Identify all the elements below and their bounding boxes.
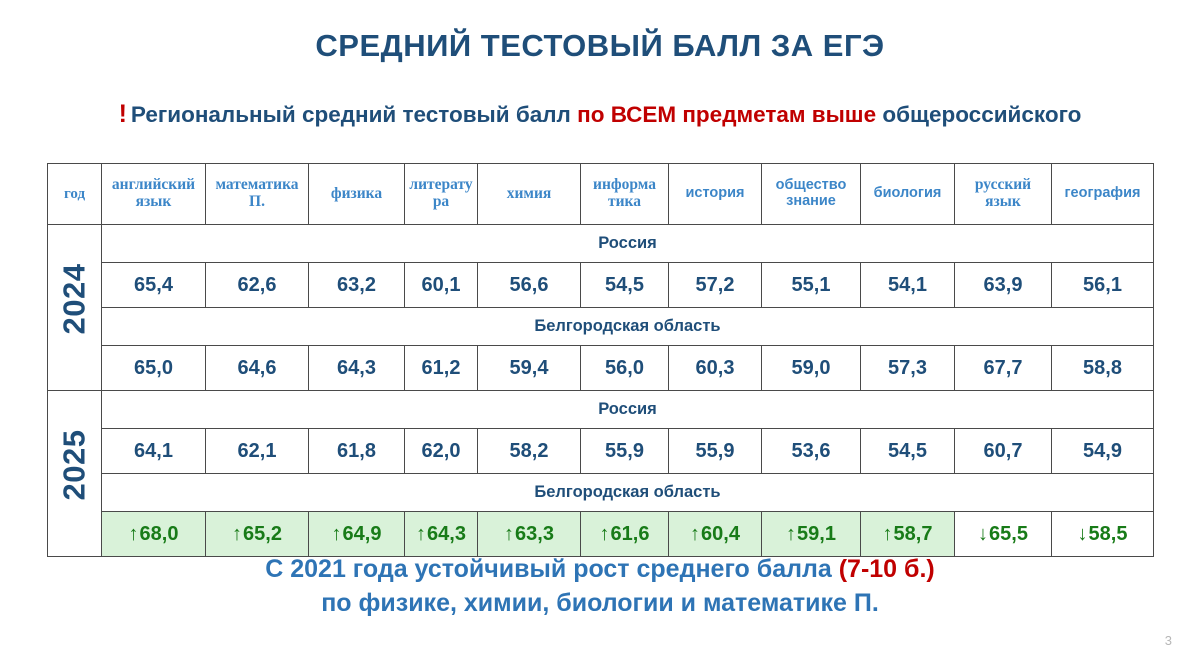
cell-2025-russia-history: 55,9	[669, 429, 762, 474]
page-title: СРЕДНИЙ ТЕСТОВЫЙ БАЛЛ ЗА ЕГЭ	[0, 28, 1200, 64]
value-text: 68,0	[140, 523, 179, 545]
arrow-up-icon: ↑	[416, 524, 426, 544]
value-text: 65,5	[989, 523, 1028, 545]
cell-2024-belgorod-russian: 67,7	[955, 346, 1052, 391]
region-label-row-2024-belgorod: Белгородская область	[48, 308, 1154, 346]
year-label-2024: 2024	[57, 281, 93, 334]
region-label-russia-2025: Россия	[102, 391, 1154, 429]
footer-line-1: С 2021 года устойчивый рост среднего бал…	[0, 553, 1200, 587]
subtitle-part-1: Региональный средний тестовый балл	[131, 102, 577, 127]
year-cell-2025: 2025	[48, 391, 102, 557]
cell-2024-russia-english: 65,4	[102, 263, 206, 308]
column-header-russian: русский язык	[955, 164, 1052, 225]
cell-2025-belgorod-geography: ↓58,5	[1052, 512, 1154, 557]
value-text: 63,3	[515, 523, 554, 545]
cell-2025-russia-english: 64,1	[102, 429, 206, 474]
grades-table: год английский язык математика П. физика…	[47, 163, 1154, 557]
cell-2025-russia-informatics: 55,9	[581, 429, 669, 474]
table-row-2024-russia: 65,4 62,6 63,2 60,1 56,6 54,5 57,2 55,1 …	[48, 263, 1154, 308]
region-label-row-2025-belgorod: Белгородская область	[48, 474, 1154, 512]
cell-2024-belgorod-social: 59,0	[762, 346, 861, 391]
cell-2024-russia-literature: 60,1	[405, 263, 478, 308]
value-text: 58,5	[1089, 523, 1128, 545]
arrow-up-icon: ↑	[883, 524, 893, 544]
arrow-up-icon: ↑	[600, 524, 610, 544]
region-label-row-2024-russia: 2024 Россия	[48, 225, 1154, 263]
cell-2025-russia-social: 53,6	[762, 429, 861, 474]
cell-2025-belgorod-biology: ↑58,7	[861, 512, 955, 557]
cell-2025-belgorod-math: ↑65,2	[206, 512, 309, 557]
cell-2024-belgorod-english: 65,0	[102, 346, 206, 391]
column-header-literature: литерату ра	[405, 164, 478, 225]
region-label-belgorod-2025: Белгородская область	[102, 474, 1154, 512]
table-row-2024-belgorod: 65,0 64,6 64,3 61,2 59,4 56,0 60,3 59,0 …	[48, 346, 1154, 391]
arrow-up-icon: ↑	[332, 524, 342, 544]
region-label-russia: Россия	[102, 225, 1154, 263]
cell-2024-russia-russian: 63,9	[955, 263, 1052, 308]
cell-2025-belgorod-informatics: ↑61,6	[581, 512, 669, 557]
cell-2025-belgorod-english: ↑68,0	[102, 512, 206, 557]
cell-2025-russia-russian: 60,7	[955, 429, 1052, 474]
value-text: 64,3	[427, 523, 466, 545]
subtitle-red-part-1: по	[577, 102, 611, 127]
cell-2024-belgorod-physics: 64,3	[309, 346, 405, 391]
column-header-english: английский язык	[102, 164, 206, 225]
cell-2025-russia-math: 62,1	[206, 429, 309, 474]
subtitle-banner: !Региональный средний тестовый балл по В…	[0, 100, 1200, 129]
table-body: 2024 Россия 65,4 62,6 63,2 60,1 56,6 54,…	[48, 225, 1154, 557]
cell-2024-belgorod-biology: 57,3	[861, 346, 955, 391]
column-header-biology: биология	[861, 164, 955, 225]
cell-2024-belgorod-informatics: 56,0	[581, 346, 669, 391]
cell-2024-belgorod-geography: 58,8	[1052, 346, 1154, 391]
cell-2025-belgorod-social: ↑59,1	[762, 512, 861, 557]
arrow-up-icon: ↑	[129, 524, 139, 544]
cell-2024-russia-physics: 63,2	[309, 263, 405, 308]
column-header-social-studies: общество знание	[762, 164, 861, 225]
cell-2025-belgorod-history: ↑60,4	[669, 512, 762, 557]
arrow-up-icon: ↑	[504, 524, 514, 544]
cell-2025-russia-geography: 54,9	[1052, 429, 1154, 474]
region-label-row-2025-russia: 2025 Россия	[48, 391, 1154, 429]
value-text: 61,6	[611, 523, 650, 545]
table-header-row-group: год английский язык математика П. физика…	[48, 164, 1154, 225]
column-header-geography: география	[1052, 164, 1154, 225]
value-text: 65,2	[243, 523, 282, 545]
region-label-belgorod: Белгородская область	[102, 308, 1154, 346]
table-row-2025-russia: 64,1 62,1 61,8 62,0 58,2 55,9 55,9 53,6 …	[48, 429, 1154, 474]
cell-2024-belgorod-literature: 61,2	[405, 346, 478, 391]
year-label-2025: 2025	[57, 447, 93, 500]
grades-table-container: год английский язык математика П. физика…	[47, 163, 1153, 557]
column-header-chemistry: химия	[478, 164, 581, 225]
arrow-up-icon: ↑	[232, 524, 242, 544]
value-text: 64,9	[343, 523, 382, 545]
cell-2024-belgorod-history: 60,3	[669, 346, 762, 391]
year-cell-2024: 2024	[48, 225, 102, 391]
cell-2025-russia-biology: 54,5	[861, 429, 955, 474]
value-text: 59,1	[797, 523, 836, 545]
cell-2025-russia-literature: 62,0	[405, 429, 478, 474]
exclamation-icon: !	[119, 100, 127, 128]
column-header-physics: физика	[309, 164, 405, 225]
cell-2024-russia-geography: 56,1	[1052, 263, 1154, 308]
page-number: 3	[1165, 633, 1172, 648]
cell-2024-russia-math: 62,6	[206, 263, 309, 308]
column-header-history: история	[669, 164, 762, 225]
arrow-up-icon: ↑	[690, 524, 700, 544]
column-header-math-p: математика П.	[206, 164, 309, 225]
cell-2024-belgorod-chemistry: 59,4	[478, 346, 581, 391]
arrow-up-icon: ↑	[786, 524, 796, 544]
subtitle-red-part-2: предметам выше	[676, 102, 882, 127]
arrow-down-icon: ↓	[978, 524, 988, 544]
subtitle-red-caps: ВСЕМ	[611, 102, 676, 127]
table-header-row: год английский язык математика П. физика…	[48, 164, 1154, 225]
cell-2024-russia-chemistry: 56,6	[478, 263, 581, 308]
column-header-informatics: информа тика	[581, 164, 669, 225]
value-text: 60,4	[701, 523, 740, 545]
cell-2025-belgorod-russian: ↓65,5	[955, 512, 1052, 557]
cell-2025-russia-physics: 61,8	[309, 429, 405, 474]
table-row-2025-belgorod: ↑68,0 ↑65,2 ↑64,9 ↑64,3 ↑63,3 ↑61,6	[48, 512, 1154, 557]
cell-2025-russia-chemistry: 58,2	[478, 429, 581, 474]
arrow-down-icon: ↓	[1078, 524, 1088, 544]
footer-line-1-text: С 2021 года устойчивый рост среднего бал…	[265, 555, 838, 583]
cell-2024-russia-biology: 54,1	[861, 263, 955, 308]
cell-2025-belgorod-literature: ↑64,3	[405, 512, 478, 557]
value-text: 58,7	[894, 523, 933, 545]
column-header-year: год	[48, 164, 102, 225]
footer-note: С 2021 года устойчивый рост среднего бал…	[0, 553, 1200, 621]
cell-2024-russia-informatics: 54,5	[581, 263, 669, 308]
cell-2024-belgorod-math: 64,6	[206, 346, 309, 391]
cell-2025-belgorod-physics: ↑64,9	[309, 512, 405, 557]
cell-2025-belgorod-chemistry: ↑63,3	[478, 512, 581, 557]
cell-2024-russia-history: 57,2	[669, 263, 762, 308]
footer-line-1-highlight: (7-10 б.)	[839, 555, 935, 583]
subtitle-part-2: общероссийского	[882, 102, 1081, 127]
cell-2024-russia-social: 55,1	[762, 263, 861, 308]
footer-line-2: по физике, химии, биологии и математике …	[0, 587, 1200, 621]
